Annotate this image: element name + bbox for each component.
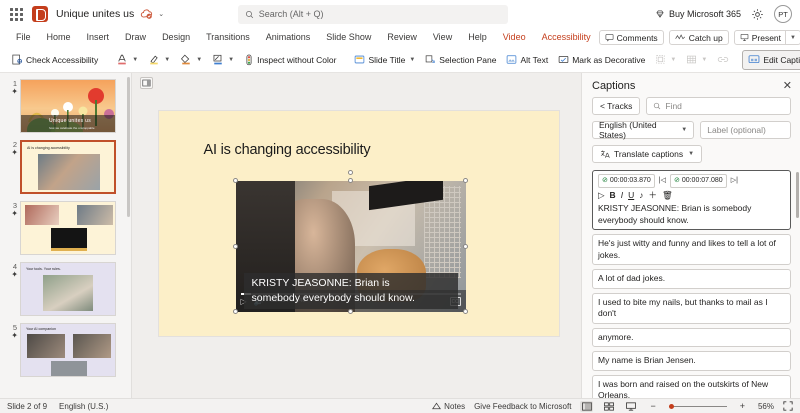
mark-as-decorative-label: Mark as Decorative <box>572 55 645 65</box>
bold-icon[interactable]: B <box>610 190 616 202</box>
seek-start-icon[interactable]: |◁ <box>659 175 666 187</box>
thumbnail-row-3[interactable]: 3 ✦ <box>6 201 123 255</box>
captions-pane: Captions ✕ < Tracks Find English (United… <box>581 73 800 398</box>
slide-thumbnail-2[interactable]: AI is changing accessibility <box>20 140 116 194</box>
tab-file[interactable]: File <box>8 28 39 47</box>
slide-title-label: Slide Title <box>368 55 405 65</box>
table-button: ▼ <box>681 50 712 70</box>
comments-label: Comments <box>617 33 658 43</box>
accessibility-ribbon: Check Accessibility ▼ ▼ ▼ ▼ <box>0 47 800 73</box>
tracks-back-button[interactable]: < Tracks <box>592 97 640 115</box>
caption-line-2: somebody everybody should know. <box>252 291 450 306</box>
check-accessibility-icon <box>11 54 23 66</box>
clock-check-icon: ⊘ <box>674 175 680 187</box>
caption-cue[interactable]: He's just witty and funny and likes to t… <box>592 234 791 265</box>
tab-slide-show[interactable]: Slide Show <box>318 28 379 47</box>
catch-up-icon <box>675 33 686 42</box>
tab-animations[interactable]: Animations <box>258 28 319 47</box>
captions-pane-title: Captions <box>592 80 635 92</box>
alt-text-icon <box>506 54 517 65</box>
search-input[interactable]: Search (Alt + Q) <box>238 5 508 24</box>
status-bar: Slide 2 of 9 English (U.S.) Notes Give F… <box>0 398 800 413</box>
slide-thumbnail-4[interactable]: Your tools. Your rules. <box>20 262 116 316</box>
link-icon <box>717 54 729 65</box>
tab-review[interactable]: Review <box>379 28 425 47</box>
tab-video[interactable]: Video <box>495 28 534 47</box>
resize-handle-bc[interactable] <box>348 309 353 314</box>
language-value: English (United States) <box>599 120 681 140</box>
thumbnail-row-5[interactable]: 5 ✦ Your AI companion <box>6 323 123 377</box>
captions-pane-header: Captions ✕ <box>582 73 800 97</box>
zoom-level-label[interactable]: 56% <box>758 402 774 411</box>
music-note-icon[interactable]: ♪ <box>639 190 643 202</box>
zoom-slider-track <box>669 406 727 407</box>
search-icon <box>653 102 661 110</box>
slide-sorter-icon[interactable] <box>602 401 615 412</box>
highlight-color-chevron-down-icon[interactable]: ▼ <box>164 57 170 63</box>
slide-canvas[interactable]: AI is changing accessibility ▷ 🔊 00:03 /… <box>136 73 581 398</box>
zoom-slider-thumb[interactable] <box>669 404 674 409</box>
shape-outline-button[interactable]: ▼ <box>207 50 239 70</box>
editor-body: 1 ✦ <box>0 73 800 398</box>
zoom-out-button[interactable]: − <box>646 401 659 411</box>
label-input[interactable]: Label (optional) <box>700 121 791 139</box>
close-icon[interactable]: ✕ <box>783 81 792 92</box>
slide-thumbnail-5[interactable]: Your AI companion <box>20 323 116 377</box>
italic-icon[interactable]: I <box>621 190 623 202</box>
resize-handle-tr[interactable] <box>463 178 468 183</box>
caption-cue[interactable]: I was born and raised on the outskirts o… <box>592 375 791 399</box>
translate-chevron-down-icon[interactable]: ▼ <box>688 151 694 157</box>
tab-accessibility[interactable]: Accessibility <box>534 28 599 48</box>
caption-line-1: KRISTY JEASONNE: Brian is <box>252 276 450 291</box>
mark-as-decorative-button[interactable]: Mark as Decorative <box>553 50 650 70</box>
language-select[interactable]: English (United States) ▼ <box>592 121 694 139</box>
notes-icon <box>432 402 441 410</box>
table-icon <box>686 54 697 65</box>
edit-captions-button[interactable]: Edit Captions <box>742 50 800 70</box>
thumbnail-5-title: Your AI companion <box>26 327 56 331</box>
tab-design[interactable]: Design <box>154 28 198 47</box>
present-label: Present <box>752 33 781 43</box>
rotate-handle[interactable] <box>348 170 353 175</box>
selection-pane-button[interactable]: Selection Pane <box>420 50 501 70</box>
thumbnail-5-image-a <box>27 334 65 358</box>
thumbnail-row-2[interactable]: 2 ✦ AI is changing accessibility <box>6 140 123 194</box>
thumbnail-3-image-c <box>51 228 87 248</box>
selection-pane-label: Selection Pane <box>439 55 496 65</box>
cue-end-time[interactable]: ⊘ 00:00:07.080 <box>670 174 727 188</box>
inspect-without-color-label: Inspect without Color <box>257 55 336 65</box>
clock-check-icon: ⊘ <box>602 175 608 187</box>
underline-icon[interactable]: U <box>628 190 634 202</box>
comments-button[interactable]: Comments <box>599 30 664 45</box>
zoom-slider[interactable] <box>669 406 727 407</box>
thumbnail-1-title: Unique unites us <box>49 118 91 124</box>
slide-number-3: 3 ✦ <box>6 201 17 219</box>
chevron-down-icon: ▼ <box>681 127 687 133</box>
resize-handle-mr[interactable] <box>463 244 468 249</box>
tab-draw[interactable]: Draw <box>117 28 154 47</box>
thumbnail-2-image <box>38 154 100 190</box>
plus-icon[interactable]: ＋ <box>648 190 657 202</box>
video-placeholder[interactable]: ▷ 🔊 00:03 / 00:48 cc KRISTY JEASONNE: Br… <box>236 181 466 312</box>
selection-pane-icon <box>425 54 436 65</box>
thumbnail-3-image-a <box>25 205 59 225</box>
notes-pane-icon[interactable] <box>140 77 153 89</box>
cue-format-toolbar: ▷ B I U ♪ ＋ 🗑 <box>598 190 785 202</box>
caption-cue[interactable]: anymore. <box>592 328 791 348</box>
find-placeholder: Find <box>665 101 682 111</box>
check-accessibility-label: Check Accessibility <box>26 55 98 65</box>
play-icon[interactable]: ▷ <box>598 190 605 202</box>
slide-number-1: 1 ✦ <box>6 79 17 97</box>
tab-insert[interactable]: Insert <box>79 28 118 47</box>
title-bar: Unique unites us ⌄ Search (Alt + Q) Buy … <box>0 0 800 28</box>
slide-number-2: 2 ✦ <box>6 140 17 158</box>
find-input[interactable]: Find <box>646 97 791 115</box>
animation-star-icon: ✦ <box>6 271 17 280</box>
thumbnail-2-title: AI is changing accessibility <box>27 146 70 150</box>
link-button <box>712 50 734 70</box>
thumbnail-3-bar <box>51 248 87 251</box>
buy-label: Buy Microsoft 365 <box>669 9 741 19</box>
catch-up-button[interactable]: Catch up <box>669 30 729 45</box>
notes-button[interactable]: Notes <box>432 402 465 411</box>
avatar[interactable]: PT <box>774 5 792 23</box>
slide-number-5: 5 ✦ <box>6 323 17 341</box>
highlight-color-icon <box>148 53 160 66</box>
translate-captions-button[interactable]: Translate captions ▼ <box>592 145 702 163</box>
caption-list-scrollbar[interactable] <box>796 172 799 218</box>
language-label[interactable]: English (U.S.) <box>59 402 108 411</box>
shape-outline-icon <box>212 53 224 66</box>
shape-outline-chevron-down-icon[interactable]: ▼ <box>228 57 234 63</box>
slide-thumbnail-list: 1 ✦ <box>0 73 131 377</box>
slide-title-button[interactable]: Slide Title ▼ <box>349 50 420 70</box>
cue-end-value: 00:00:07.080 <box>682 175 723 187</box>
animation-star-icon: ✦ <box>6 210 17 219</box>
resize-handle-tc[interactable] <box>348 178 353 183</box>
slide-title-text[interactable]: AI is changing accessibility <box>204 142 371 158</box>
slide-surface[interactable]: AI is changing accessibility ▷ 🔊 00:03 /… <box>159 111 559 336</box>
group-chevron-down-icon: ▼ <box>670 57 676 63</box>
font-color-button[interactable]: ▼ <box>111 50 143 70</box>
thumbnail-scrollbar[interactable] <box>127 77 130 217</box>
thumbnail-4-title: Your tools. Your rules. <box>26 267 61 271</box>
check-accessibility-button[interactable]: Check Accessibility <box>6 50 103 70</box>
shape-fill-chevron-down-icon[interactable]: ▼ <box>196 57 202 63</box>
thumbnail-4-image <box>43 275 93 311</box>
app-launcher-icon[interactable] <box>8 6 24 22</box>
resize-handle-tl[interactable] <box>233 178 238 183</box>
caption-cue-active[interactable]: ⊘ 00:00:03.870 |◁ ⊘ 00:00:07.080 ▷| ▷ B <box>592 170 791 230</box>
thumbnail-5-image-b <box>73 334 111 358</box>
captions-toolbar-row-1: < Tracks Find <box>582 97 800 121</box>
present-button[interactable]: Present ▼ <box>734 30 800 45</box>
seek-end-icon[interactable]: ▷| <box>731 175 738 187</box>
gear-icon[interactable] <box>750 7 765 22</box>
status-bar-right: Notes Give Feedback to Microsoft − + 56% <box>432 401 793 412</box>
animation-star-icon: ✦ <box>6 88 17 97</box>
caption-cue-list[interactable]: ⊘ 00:00:03.870 |◁ ⊘ 00:00:07.080 ▷| ▷ B <box>582 170 800 398</box>
resize-handle-bl[interactable] <box>233 309 238 314</box>
thumbnail-3-image-b <box>77 205 113 225</box>
slide-thumbnail-panel[interactable]: 1 ✦ <box>0 73 132 398</box>
animation-star-icon: ✦ <box>6 332 17 341</box>
font-color-chevron-down-icon[interactable]: ▼ <box>132 57 138 63</box>
ribbon-tabs: File Home Insert Draw Design Transitions… <box>0 28 800 47</box>
table-chevron-down-icon: ▼ <box>701 57 707 63</box>
diamond-icon <box>655 9 665 19</box>
caption-cue[interactable]: A lot of dad jokes. <box>592 269 791 289</box>
comment-icon <box>605 33 614 42</box>
search-icon <box>245 10 254 19</box>
search-placeholder: Search (Alt + Q) <box>259 9 324 19</box>
slide-thumbnail-1[interactable]: Unique unites us how we celebrate the un… <box>20 79 116 133</box>
alt-text-label: Alt Text <box>520 55 548 65</box>
slide-number-4: 4 ✦ <box>6 262 17 280</box>
edit-captions-icon <box>748 54 760 65</box>
slide-count-label[interactable]: Slide 2 of 9 <box>7 402 47 411</box>
cue-start-value: 00:00:03.870 <box>610 175 651 187</box>
font-color-icon <box>116 53 128 66</box>
document-title[interactable]: Unique unites us <box>56 8 134 20</box>
thumbnail-row-1[interactable]: 1 ✦ <box>6 79 123 133</box>
present-chevron-down-icon[interactable]: ▼ <box>785 31 800 44</box>
highlight-color-button[interactable]: ▼ <box>143 50 175 70</box>
fit-to-window-icon[interactable] <box>783 401 793 411</box>
resize-handle-br[interactable] <box>463 309 468 314</box>
mark-as-decorative-icon <box>558 54 569 65</box>
normal-view-icon[interactable] <box>580 401 593 412</box>
tab-home[interactable]: Home <box>39 28 79 47</box>
buy-microsoft-365-button[interactable]: Buy Microsoft 365 <box>655 9 741 19</box>
caption-cue[interactable]: My name is Brian Jensen. <box>592 351 791 371</box>
label-placeholder: Label (optional) <box>707 125 766 135</box>
slide-title-icon <box>354 54 365 65</box>
powerpoint-web-app: Unique unites us ⌄ Search (Alt + Q) Buy … <box>0 0 800 413</box>
present-icon <box>740 33 749 42</box>
group-objects-button: ▼ <box>650 50 681 70</box>
zoom-in-button[interactable]: + <box>736 401 749 411</box>
feedback-button[interactable]: Give Feedback to Microsoft <box>474 402 571 411</box>
edit-captions-label: Edit Captions <box>763 55 800 65</box>
cue-start-time[interactable]: ⊘ 00:00:03.870 <box>598 174 655 188</box>
alt-text-button[interactable]: Alt Text <box>501 50 553 70</box>
cue-time-row: ⊘ 00:00:03.870 |◁ ⊘ 00:00:07.080 ▷| <box>598 174 785 188</box>
slide-title-chevron-down-icon[interactable]: ▼ <box>409 57 415 63</box>
thumbnail-5-image-c <box>51 361 87 377</box>
inspect-without-color-button[interactable]: Inspect without Color <box>239 50 341 70</box>
cloud-sync-icon[interactable] <box>140 7 154 21</box>
shape-fill-icon <box>180 53 192 66</box>
group-icon <box>655 54 666 65</box>
thumbnail-row-4[interactable]: 4 ✦ Your tools. Your rules. <box>6 262 123 316</box>
title-chevron-down-icon[interactable]: ⌄ <box>158 10 164 18</box>
animation-star-icon: ✦ <box>6 149 17 158</box>
titlebar-right-group: Buy Microsoft 365 PT <box>655 5 792 23</box>
translate-icon <box>600 149 610 159</box>
catch-up-label: Catch up <box>689 33 723 43</box>
tab-help[interactable]: Help <box>460 28 495 47</box>
cue-text[interactable]: KRISTY JEASONNE: Brian is somebody every… <box>598 203 785 226</box>
tab-transitions[interactable]: Transitions <box>198 28 258 47</box>
caption-cue[interactable]: I used to bite my nails, but thanks to m… <box>592 293 791 324</box>
tabbar-actions: Comments Catch up Present ▼ Editing <box>599 30 800 45</box>
inspect-without-color-icon <box>244 54 254 66</box>
reading-view-icon[interactable] <box>624 401 637 412</box>
shape-fill-button[interactable]: ▼ <box>175 50 207 70</box>
resize-handle-ml[interactable] <box>233 244 238 249</box>
thumbnail-1-subtitle: how we celebrate the unstoppable <box>49 126 95 130</box>
slide-thumbnail-3[interactable] <box>20 201 116 255</box>
powerpoint-logo-icon <box>32 6 48 22</box>
trash-icon[interactable]: 🗑 <box>662 190 673 202</box>
captions-toolbar-row-2: English (United States) ▼ Label (optiona… <box>582 121 800 145</box>
video-caption-overlay: KRISTY JEASONNE: Brian is somebody every… <box>244 273 458 309</box>
notes-label: Notes <box>444 402 465 411</box>
tab-view[interactable]: View <box>425 28 460 47</box>
translate-label: Translate captions <box>614 149 683 159</box>
